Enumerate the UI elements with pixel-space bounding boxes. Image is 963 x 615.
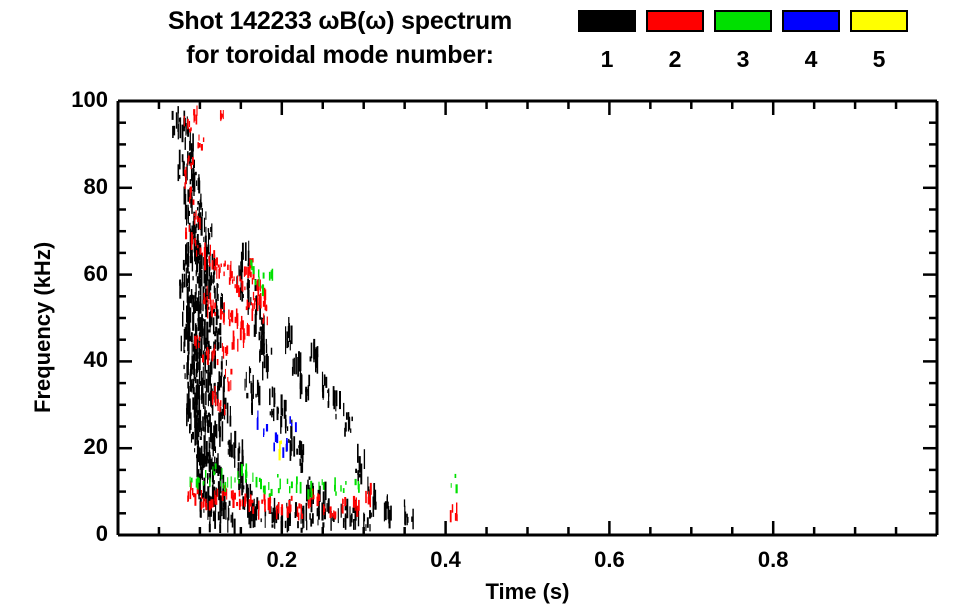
legend-swatch-mode-3 [714,10,772,32]
y-tick-label-20: 20 [20,434,108,460]
spectrum-figure: Shot 142233 ωB(ω) spectrum for toroidal … [0,0,963,615]
series-3 [190,260,457,500]
legend-swatch-mode-1 [578,10,636,32]
legend-swatch-mode-5 [850,10,908,32]
legend-label-mode-3: 3 [714,46,772,73]
x-axis-title: Time (s) [428,579,628,605]
x-tick-label-0.2: 0.2 [242,547,322,573]
series-1 [173,106,414,534]
y-axis-title: Frequency (kHz) [30,242,56,413]
legend-item-mode-4[interactable]: 4 [782,10,840,73]
legend-swatch-mode-4 [782,10,840,32]
mode-legend: 12345 [578,10,948,90]
y-tick-label-100: 100 [20,87,108,113]
x-tick-label-0.8: 0.8 [733,547,813,573]
legend-label-mode-2: 2 [646,46,704,73]
legend-label-mode-1: 1 [578,46,636,73]
series-4 [258,411,296,458]
chart-title: Shot 142233 ωB(ω) spectrum for toroidal … [105,4,575,72]
spectrogram-data [173,106,458,534]
x-tick-label-0.6: 0.6 [569,547,649,573]
y-tick-label-80: 80 [20,174,108,200]
plot-canvas [0,0,963,615]
legend-item-mode-5[interactable]: 5 [850,10,908,73]
legend-label-mode-4: 4 [782,46,840,73]
axis-frame [118,101,937,535]
series-2 [184,106,457,523]
legend-item-mode-1[interactable]: 1 [578,10,636,73]
legend-label-mode-5: 5 [850,46,908,73]
series-5 [280,440,282,460]
legend-swatch-mode-2 [646,10,704,32]
axis-ticks [118,101,937,535]
legend-item-mode-3[interactable]: 3 [714,10,772,73]
legend-item-mode-2[interactable]: 2 [646,10,704,73]
title-line-2: for toroidal mode number: [105,38,575,72]
y-tick-label-0: 0 [20,521,108,547]
title-line-1: Shot 142233 ωB(ω) spectrum [105,4,575,38]
x-tick-label-0.4: 0.4 [406,547,486,573]
